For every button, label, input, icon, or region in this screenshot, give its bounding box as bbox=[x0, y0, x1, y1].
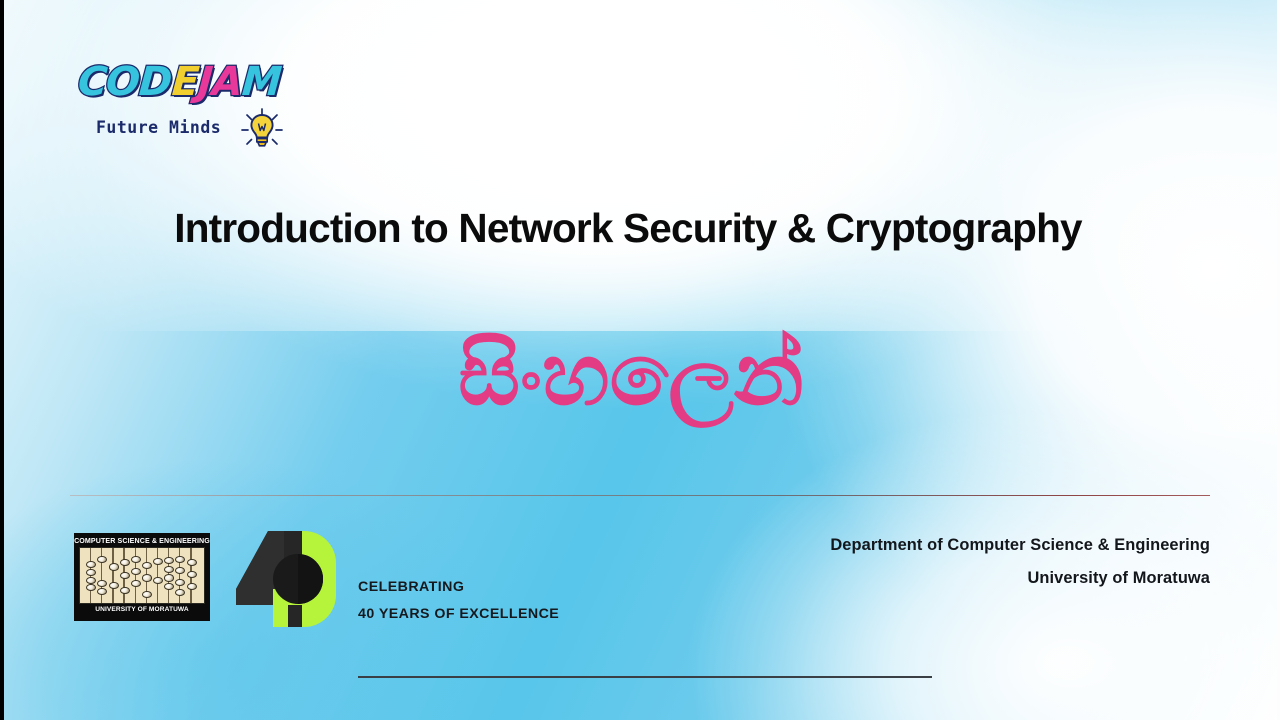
lightbulb-icon bbox=[236, 104, 288, 156]
slide-canvas: CODEJAM Future Minds bbox=[0, 0, 1280, 720]
cse-department-logo: COMPUTER SCIENCE & ENGINEERING bbox=[74, 533, 210, 621]
codejam-letter-e: E bbox=[170, 56, 200, 108]
department-line-1: Department of Computer Science & Enginee… bbox=[830, 529, 1210, 562]
slide-title: Introduction to Network Security & Crypt… bbox=[0, 205, 1280, 252]
divider-top bbox=[70, 495, 1210, 496]
codejam-tagline: Future Minds bbox=[96, 118, 221, 137]
codejam-letter-d: D bbox=[138, 56, 174, 108]
cse-logo-bottom-text: UNIVERSITY OF MORATUWA bbox=[74, 604, 210, 613]
slide-subtitle-sinhala: සිංහලෙන් bbox=[0, 325, 1280, 426]
abacus-icon bbox=[79, 547, 205, 604]
codejam-letter-c: C bbox=[76, 56, 108, 108]
department-line-2: University of Moratuwa bbox=[830, 562, 1210, 595]
divider-bottom bbox=[358, 676, 932, 678]
codejam-letter-a: A bbox=[210, 56, 244, 108]
cse-logo-top-text: COMPUTER SCIENCE & ENGINEERING bbox=[74, 533, 210, 545]
codejam-wordmark: CODEJAM bbox=[78, 56, 273, 110]
forty-years-logo-icon bbox=[232, 527, 340, 631]
codejam-letter-o: O bbox=[105, 56, 142, 108]
codejam-logo: CODEJAM Future Minds bbox=[78, 56, 288, 160]
codejam-letter-m: M bbox=[240, 56, 282, 108]
anniversary-line-2: 40 YEARS OF EXCELLENCE bbox=[358, 601, 559, 628]
anniversary-text: CELEBRATING 40 YEARS OF EXCELLENCE bbox=[358, 574, 559, 628]
department-credit: Department of Computer Science & Enginee… bbox=[830, 529, 1210, 595]
anniversary-line-1: CELEBRATING bbox=[358, 574, 559, 601]
